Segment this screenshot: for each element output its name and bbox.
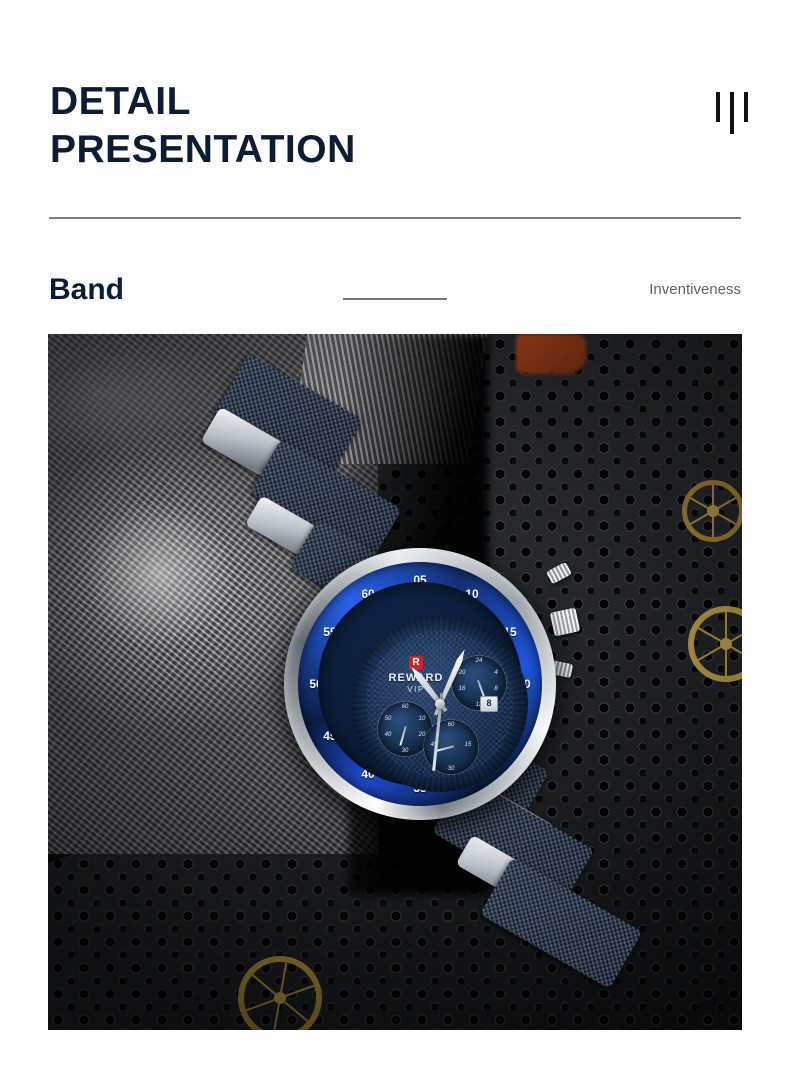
wristwatch: 05 10 15 20 25 30 35 40 45 50 55 60 [198,424,618,944]
page-header: DETAIL PRESENTATION [0,0,790,218]
watch-crown [550,608,580,637]
date-window: 8 [480,696,498,712]
hands-pin [435,699,445,709]
section-tagline: Inventiveness [649,280,741,300]
subdial-label: 16 [454,686,470,692]
bar-center [730,92,734,134]
subdial-label: 8 [488,686,504,692]
subdial-label: 24 [471,658,487,664]
product-photo: 05 10 15 20 25 30 35 40 45 50 55 60 [48,334,742,1030]
section-title: Band [49,272,124,308]
watch-dial: R REWARD VIP 24 4 8 12 16 20 [352,616,528,792]
page-title: DETAIL PRESENTATION [50,78,356,174]
chronograph-pusher-top [546,562,572,585]
section-accent-line [343,298,447,300]
subdial-label: 30 [397,748,413,754]
three-bars-icon [714,88,754,132]
subdial-hand [399,726,406,746]
subdial-label: 15 [460,742,476,748]
detail-presentation-page: DETAIL PRESENTATION Band Inventiveness [0,0,790,1077]
section-header-row: Band Inventiveness [0,272,790,316]
watch-case: 05 10 15 20 25 30 35 40 45 50 55 60 [284,548,556,820]
subdial-label: 40 [380,732,396,738]
subdial-label: 30 [443,766,459,772]
subdial-label: 4 [488,670,504,676]
watch-bezel: 05 10 15 20 25 30 35 40 45 50 55 60 [298,562,542,806]
bezel-inner-ring: R REWARD VIP 24 4 8 12 16 20 [318,582,522,786]
bar-left [716,92,720,122]
subdial-label: 60 [443,722,459,728]
subdial-label: 10 [414,716,430,722]
subdial-label: 50 [380,716,396,722]
brand-logo-mark: R [409,656,423,670]
header-divider [49,217,741,219]
subdial-label: 60 [397,704,413,710]
page-title-line-1: DETAIL [50,78,356,126]
page-title-line-2: PRESENTATION [50,126,356,174]
bar-right [744,92,748,122]
